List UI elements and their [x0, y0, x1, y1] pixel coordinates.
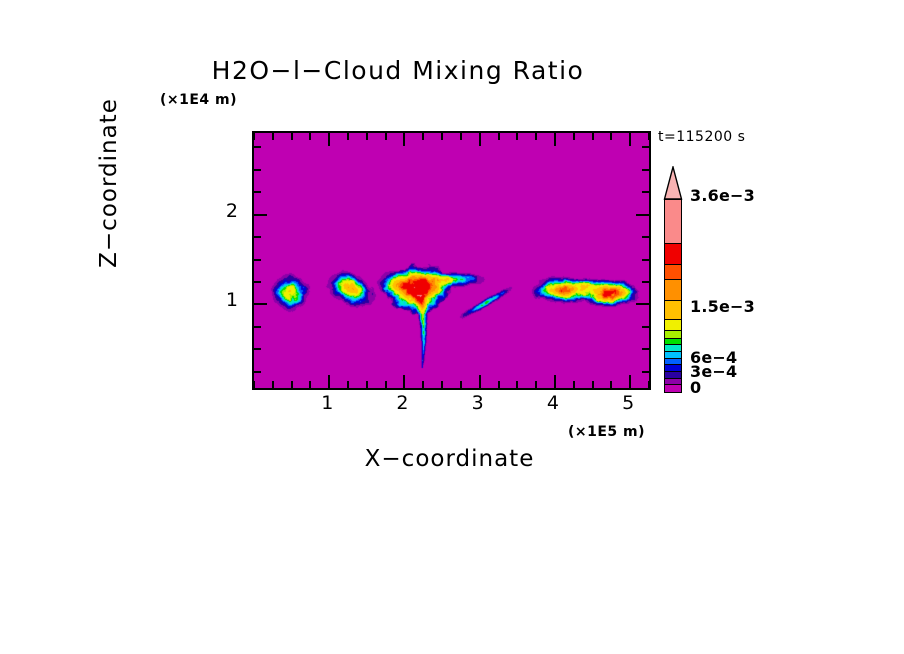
- x-minor-tick-top: [272, 133, 274, 140]
- colorbar-tick-label: 3.6e−3: [690, 186, 755, 205]
- y-minor-tick-right: [642, 191, 649, 193]
- x-minor-tick-top: [592, 133, 594, 140]
- x-minor-tick-top: [573, 133, 575, 140]
- x-minor-tick-top: [441, 133, 443, 140]
- y-minor-tick-right: [642, 169, 649, 171]
- x-minor-tick-top: [422, 133, 424, 140]
- x-minor-tick-bottom: [460, 381, 462, 388]
- y-minor-tick-right: [642, 146, 649, 148]
- colorbar-band-separator: [665, 364, 681, 365]
- x-minor-tick-top: [460, 133, 462, 140]
- x-minor-tick-top: [648, 133, 650, 140]
- x-minor-tick-top: [253, 133, 255, 140]
- x-minor-tick-bottom: [347, 381, 349, 388]
- colorbar-arrow-icon: [663, 166, 683, 200]
- time-annotation: t=115200 s: [658, 129, 745, 145]
- colorbar-band-separator: [665, 264, 681, 265]
- x-minor-tick-top: [535, 133, 537, 140]
- y-minor-tick-left: [254, 146, 261, 148]
- y-minor-tick-left: [254, 259, 261, 261]
- x-minor-tick-top: [366, 133, 368, 140]
- x-minor-tick-bottom: [253, 381, 255, 388]
- colorbar-band-separator: [665, 243, 681, 244]
- x-minor-tick-bottom: [498, 381, 500, 388]
- x-major-tick-top: [554, 133, 556, 146]
- x-major-tick-top: [629, 133, 631, 146]
- x-minor-tick-bottom: [385, 381, 387, 388]
- colorbar[interactable]: [663, 166, 683, 394]
- x-minor-tick-top: [498, 133, 500, 140]
- y-minor-tick-left: [254, 326, 261, 328]
- y-minor-tick-left: [254, 348, 261, 350]
- y-minor-tick-left: [254, 236, 261, 238]
- x-major-tick-top: [328, 133, 330, 146]
- colorbar-band-separator: [665, 371, 681, 372]
- x-minor-tick-bottom: [592, 381, 594, 388]
- x-tick-label: 4: [538, 392, 568, 414]
- colorbar-band-separator: [665, 338, 681, 339]
- colorbar-band: [665, 243, 681, 265]
- plot-title-text: H2O−l−Cloud Mixing Ratio: [212, 56, 585, 85]
- colorbar-band-separator: [665, 344, 681, 345]
- y-tick-label: 2: [214, 200, 238, 222]
- y-minor-tick-left: [254, 371, 261, 373]
- y-minor-tick-right: [642, 259, 649, 261]
- y-major-tick-right: [636, 214, 649, 216]
- x-minor-tick-bottom: [422, 381, 424, 388]
- x-minor-tick-top: [516, 133, 518, 140]
- colorbar-band-separator: [665, 330, 681, 331]
- y-minor-tick-right: [642, 326, 649, 328]
- colorbar-band: [665, 384, 681, 391]
- colorbar-bands: [664, 199, 682, 393]
- y-axis-title: Z−coordinate: [96, 53, 122, 313]
- colorbar-band-separator: [665, 384, 681, 385]
- x-minor-tick-bottom: [366, 381, 368, 388]
- y-minor-tick-left: [254, 281, 261, 283]
- x-minor-tick-top: [610, 133, 612, 140]
- x-major-tick-bottom: [403, 375, 405, 388]
- colorbar-tick-label: 0: [690, 378, 701, 397]
- x-tick-label: 3: [463, 392, 493, 414]
- colorbar-band-separator: [665, 319, 681, 320]
- y-minor-tick-left: [254, 169, 261, 171]
- x-minor-tick-top: [347, 133, 349, 140]
- colorbar-band: [665, 300, 681, 320]
- x-minor-tick-top: [385, 133, 387, 140]
- colorbar-band-separator: [665, 378, 681, 379]
- x-minor-tick-bottom: [610, 381, 612, 388]
- y-minor-tick-right: [642, 371, 649, 373]
- x-minor-tick-bottom: [573, 381, 575, 388]
- contour-plot-area[interactable]: [252, 131, 651, 390]
- x-minor-tick-bottom: [272, 381, 274, 388]
- y-major-tick-left: [254, 214, 267, 216]
- x-minor-tick-bottom: [516, 381, 518, 388]
- x-minor-tick-top: [291, 133, 293, 140]
- y-major-tick-left: [254, 303, 267, 305]
- colorbar-band: [665, 264, 681, 280]
- x-minor-tick-bottom: [648, 381, 650, 388]
- mixing-ratio-field-canvas: [254, 133, 649, 388]
- x-minor-tick-top: [309, 133, 311, 140]
- colorbar-band-separator: [665, 300, 681, 301]
- x-major-tick-bottom: [554, 375, 556, 388]
- y-axis-unit-label: (×1E4 m): [160, 92, 237, 108]
- y-minor-tick-right: [642, 236, 649, 238]
- x-minor-tick-bottom: [291, 381, 293, 388]
- y-major-tick-right: [636, 303, 649, 305]
- x-minor-tick-bottom: [309, 381, 311, 388]
- colorbar-band-separator: [665, 351, 681, 352]
- x-major-tick-bottom: [328, 375, 330, 388]
- x-axis-unit-label: (×1E5 m): [568, 424, 645, 440]
- y-minor-tick-right: [642, 348, 649, 350]
- x-tick-label: 5: [613, 392, 643, 414]
- colorbar-band-separator: [665, 279, 681, 280]
- x-tick-label: 2: [387, 392, 417, 414]
- y-tick-label: 1: [214, 289, 238, 311]
- x-major-tick-top: [403, 133, 405, 146]
- x-major-tick-top: [479, 133, 481, 146]
- colorbar-tick-label: 1.5e−3: [690, 297, 755, 316]
- x-axis-title: X−coordinate: [252, 446, 647, 472]
- y-minor-tick-right: [642, 281, 649, 283]
- colorbar-band-separator: [665, 358, 681, 359]
- page-title: H2O−l−Cloud Mixing Ratio: [0, 56, 904, 85]
- x-major-tick-bottom: [629, 375, 631, 388]
- x-tick-label: 1: [312, 392, 342, 414]
- colorbar-band: [665, 319, 681, 331]
- y-minor-tick-left: [254, 191, 261, 193]
- x-minor-tick-bottom: [441, 381, 443, 388]
- colorbar-band: [665, 279, 681, 301]
- x-major-tick-bottom: [479, 375, 481, 388]
- colorbar-band: [665, 200, 681, 243]
- x-minor-tick-bottom: [535, 381, 537, 388]
